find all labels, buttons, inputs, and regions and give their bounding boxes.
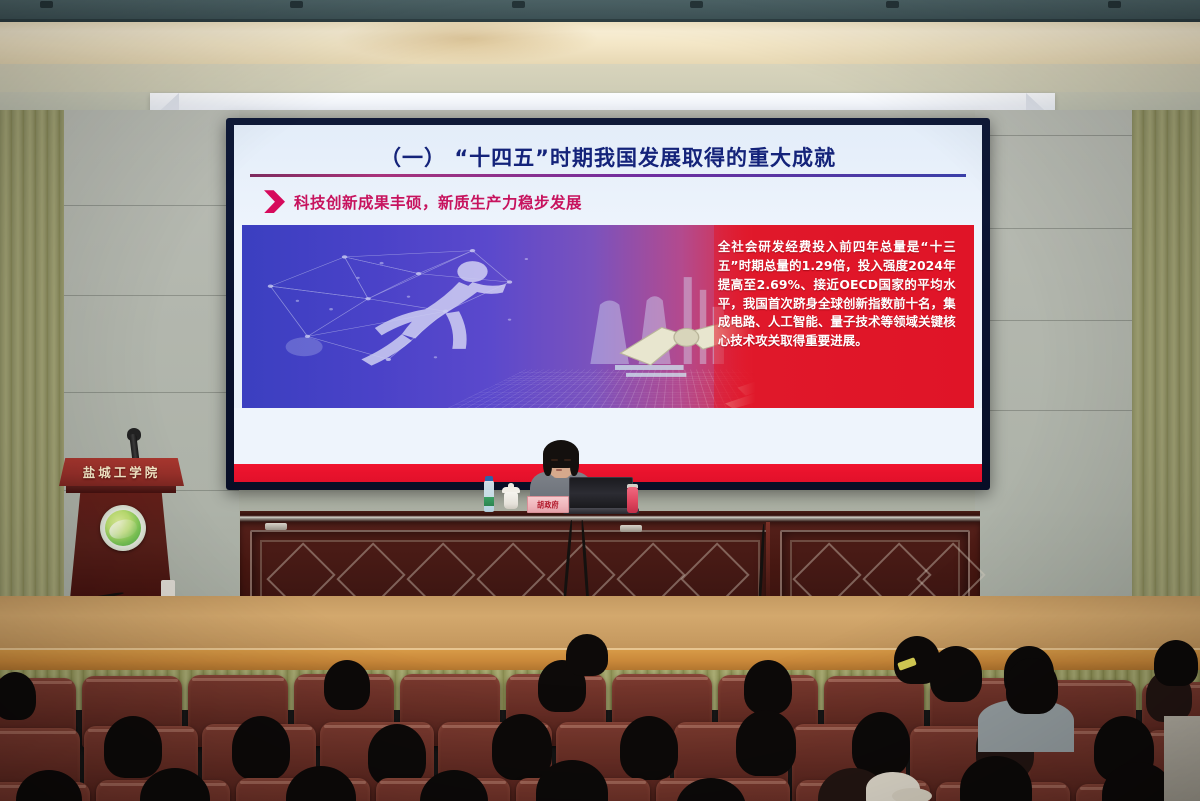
ceiling-dark-band [0, 0, 1200, 22]
audience-head [744, 660, 792, 714]
ceiling-downlight-icon [1108, 1, 1121, 8]
water-bottle-label [484, 497, 494, 506]
lecture-hall-photo: （一） “十四五”时期我国发展取得的重大成就 科技创新成果丰硕，新质生产力稳步发… [0, 0, 1200, 801]
slide-red-panel-text: 全社会研发经费投入前四年总量是“十三五”时期总量的1.29倍，投入强度2024年… [718, 238, 956, 351]
audience-head [620, 716, 678, 780]
speaker-name-card: 胡政府 [527, 496, 569, 513]
ceiling-downlight-icon [886, 1, 899, 8]
wall-fluted-panel-left [0, 110, 64, 640]
water-bottle [484, 480, 494, 512]
institution-logo-swirl [107, 516, 139, 541]
presentation-slide: （一） “十四五”时期我国发展取得的重大成就 科技创新成果丰硕，新质生产力稳步发… [234, 125, 982, 482]
ceiling-downlight-icon [690, 1, 703, 8]
speaker-hair-right [570, 452, 579, 476]
stone-seam [64, 392, 239, 393]
institution-logo-inner [105, 510, 141, 546]
wireframe-runner-icon [257, 236, 594, 382]
slide-bullet-row: 科技创新成果丰硕，新质生产力稳步发展 [264, 190, 982, 213]
ceiling-band [0, 64, 1200, 92]
water-bottle-cap [485, 476, 493, 481]
podium-neck [66, 486, 176, 493]
audience-head [1154, 640, 1198, 686]
table-microphone [265, 523, 287, 530]
podium-institution-name: 盐城工学院 [59, 462, 184, 481]
stone-seam [975, 228, 1132, 229]
speaker-eye-right [564, 459, 571, 461]
speaker-mouth [556, 469, 562, 471]
slide-figure-image: 全社会研发经费投入前四年总量是“十三五”时期总量的1.29倍，投入强度2024年… [242, 225, 974, 408]
audience-head [852, 712, 910, 776]
chevron-right-icon [264, 190, 285, 213]
audience-head [368, 724, 426, 786]
projection-screen: （一） “十四五”时期我国发展取得的重大成就 科技创新成果丰硕，新质生产力稳步发… [226, 118, 990, 490]
aisle-floor [1164, 716, 1200, 801]
screen-surface: （一） “十四五”时期我国发展取得的重大成就 科技创新成果丰硕，新质生产力稳步发… [234, 125, 982, 482]
stone-seam [975, 135, 1132, 136]
stone-seam [64, 295, 239, 296]
audience-head [232, 716, 290, 780]
ceiling-downlight-icon [512, 1, 525, 8]
speaker-eye-left [551, 459, 558, 461]
wall-fluted-panel-right [1132, 110, 1200, 640]
stone-seam [975, 410, 1132, 411]
pink-tumbler [627, 487, 638, 513]
wall-stone-panel-right [975, 110, 1132, 640]
audience-head [566, 634, 608, 676]
speaker-hair-left [543, 452, 552, 476]
stone-seam [64, 205, 239, 206]
ceiling-cove-light [0, 22, 1200, 64]
ceiling-downlight-icon [290, 1, 303, 8]
ceiling-downlight-icon [40, 1, 53, 8]
audience-head [0, 672, 36, 720]
slide-bullet-text: 科技创新成果丰硕，新质生产力稳步发展 [294, 191, 582, 213]
slide-title-block: （一） “十四五”时期我国发展取得的重大成就 [250, 145, 966, 177]
baseball-cap-brim [892, 788, 932, 801]
audience-head [104, 716, 162, 778]
slide-title-underline [250, 174, 966, 177]
slide-title: （一） “十四五”时期我国发展取得的重大成就 [250, 145, 966, 171]
tea-cup [504, 492, 518, 509]
audience-head [492, 714, 552, 780]
institution-logo-icon [100, 505, 146, 551]
audience-head [1006, 658, 1058, 714]
speaker-name-card-text: 胡政府 [537, 499, 559, 511]
laptop-screen [569, 477, 633, 511]
stone-seam [975, 320, 1132, 321]
table-microphone [620, 525, 642, 532]
audience-head [894, 636, 940, 684]
audience-head [324, 660, 370, 710]
audience-head [736, 710, 796, 776]
